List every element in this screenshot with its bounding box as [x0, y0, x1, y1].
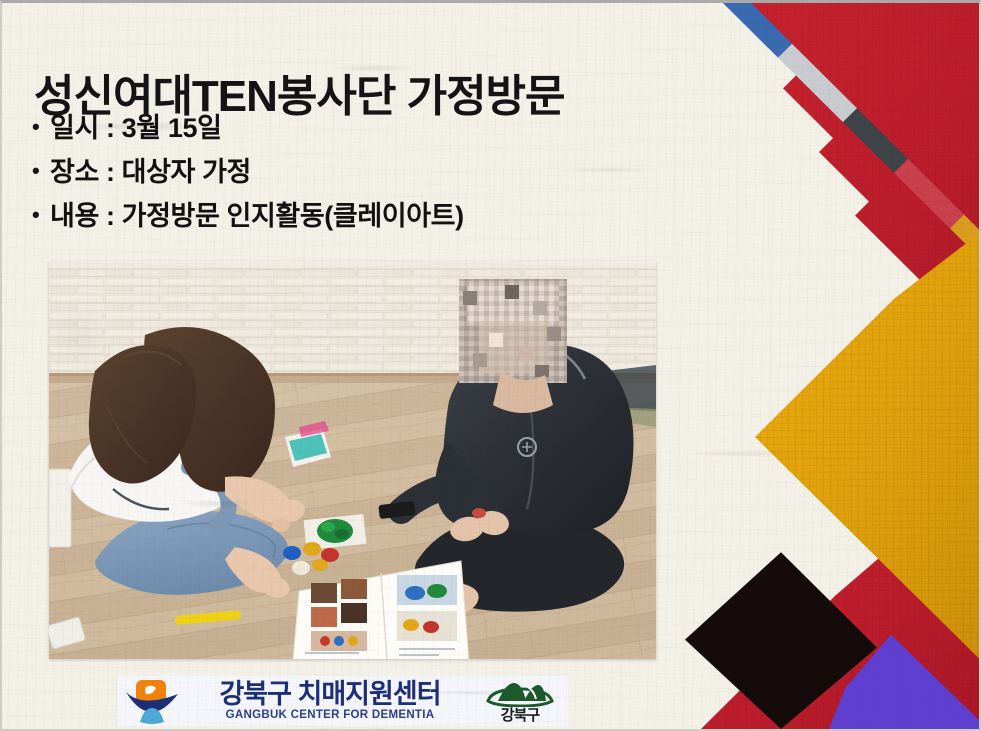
bullet-marker-icon: •	[32, 116, 50, 138]
bullet-item-location: • 장소 : 대상자 가정	[32, 159, 464, 186]
activity-photo	[49, 261, 656, 659]
logo-korean-name: 강북구 치매지원센터	[219, 680, 440, 708]
bullet-text-location: 장소 : 대상자 가정	[50, 159, 251, 186]
bullet-text-content: 내용 : 가정방문 인지활동(클레이아트)	[50, 203, 464, 230]
bullet-list: • 일시 : 3월 15일 • 장소 : 대상자 가정 • 내용 : 가정방문 …	[32, 115, 464, 247]
bullet-marker-icon: •	[32, 204, 50, 226]
logo-english-name: GANGBUK CENTER FOR DEMENTIA	[226, 709, 435, 722]
gangbuk-dementia-center-logo-icon	[124, 678, 180, 724]
organization-logo-bar: 강북구 치매지원센터 GANGBUK CENTER FOR DEMENTIA 강…	[118, 676, 568, 726]
gangbuk-mountain-emblem-icon	[484, 679, 556, 707]
gangbuk-district-label: 강북구	[501, 708, 539, 723]
presentation-slide: 성신여대TEN봉사단 가정방문 • 일시 : 3월 15일 • 장소 : 대상자…	[0, 0, 981, 731]
gangbuk-district-emblem: 강북구	[478, 678, 562, 724]
bullet-item-date: • 일시 : 3월 15일	[32, 115, 464, 142]
bullet-item-content: • 내용 : 가정방문 인지활동(클레이아트)	[32, 203, 464, 230]
bullet-marker-icon: •	[32, 160, 50, 182]
pixelated-face-mosaic	[459, 279, 567, 383]
bullet-text-date: 일시 : 3월 15일	[50, 115, 222, 142]
logo-wordmark: 강북구 치매지원센터 GANGBUK CENTER FOR DEMENTIA	[182, 680, 478, 722]
decorative-geometric-artwork	[659, 3, 979, 729]
